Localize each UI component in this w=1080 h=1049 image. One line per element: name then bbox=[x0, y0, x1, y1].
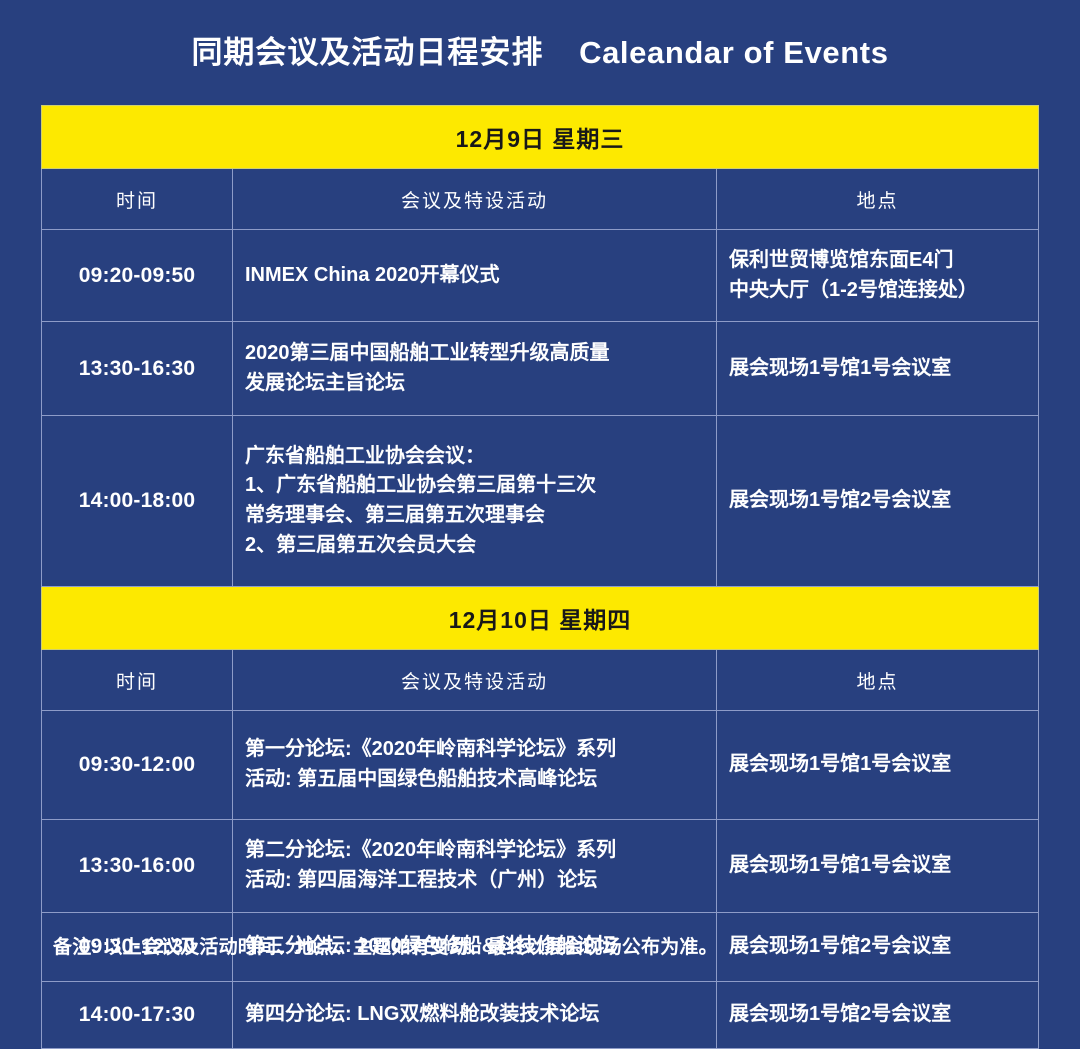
row-venue: 展会现场1号馆2号会议室 bbox=[717, 416, 1039, 587]
row-event: 第一分论坛:《2020年岭南科学论坛》系列 活动: 第五届中国绿色船舶技术高峰论… bbox=[233, 711, 717, 820]
row-event: INMEX China 2020开幕仪式 bbox=[233, 230, 717, 322]
day-banner-label: 12月9日 星期三 bbox=[42, 106, 1039, 169]
page-title-english: Caleandar of Events bbox=[579, 35, 888, 70]
event-line: 广东省船舶工业协会会议： bbox=[245, 442, 708, 472]
table-row: 14:00-17:30 第四分论坛: LNG双燃料舱改装技术论坛 展会现场1号馆… bbox=[42, 982, 1039, 1049]
row-time: 14:00-18:00 bbox=[42, 416, 233, 587]
event-line: 2、第三届第五次会员大会 bbox=[245, 531, 708, 561]
row-time: 14:00-17:30 bbox=[42, 982, 233, 1049]
event-line: 活动: 第四届海洋工程技术（广州）论坛 bbox=[245, 866, 708, 896]
table-row: 13:30-16:30 2020第三届中国船舶工业转型升级高质量 发展论坛主旨论… bbox=[42, 322, 1039, 416]
event-line: 1、广东省船舶工业协会第三届第十三次 bbox=[245, 471, 708, 501]
column-header-row: 时间 会议及特设活动 地点 bbox=[42, 169, 1039, 230]
row-venue: 展会现场1号馆1号会议室 bbox=[717, 820, 1039, 913]
footer-note: 备注: 以上会议及活动时间、地点、主题如有变动、最终以展会现场公布为准。 bbox=[53, 932, 718, 959]
column-header-time: 时间 bbox=[42, 169, 233, 230]
event-line: 活动: 第五届中国绿色船舶技术高峰论坛 bbox=[245, 765, 708, 795]
row-time: 09:30-12:00 bbox=[42, 711, 233, 820]
column-header-event: 会议及特设活动 bbox=[233, 169, 717, 230]
row-venue: 展会现场1号馆1号会议室 bbox=[717, 322, 1039, 416]
column-header-time: 时间 bbox=[42, 650, 233, 711]
page-title-chinese: 同期会议及活动日程安排 bbox=[191, 35, 543, 70]
day-banner-row: 12月10日 星期四 bbox=[42, 587, 1039, 650]
day-banner-label: 12月10日 星期四 bbox=[42, 587, 1039, 650]
column-header-event: 会议及特设活动 bbox=[233, 650, 717, 711]
table-row: 13:30-16:00 第二分论坛:《2020年岭南科学论坛》系列 活动: 第四… bbox=[42, 820, 1039, 913]
venue-line: 保利世贸博览馆东面E4门 bbox=[729, 246, 1030, 276]
venue-line: 展会现场1号馆2号会议室 bbox=[729, 1000, 1030, 1030]
row-time: 09:20-09:50 bbox=[42, 230, 233, 322]
venue-line: 中央大厅（1-2号馆连接处） bbox=[729, 276, 1030, 306]
event-line: 发展论坛主旨论坛 bbox=[245, 369, 708, 399]
venue-line: 展会现场1号馆1号会议室 bbox=[729, 354, 1030, 384]
event-line: 常务理事会、第三届第五次理事会 bbox=[245, 501, 708, 531]
row-venue: 展会现场1号馆1号会议室 bbox=[717, 711, 1039, 820]
column-header-venue: 地点 bbox=[717, 650, 1039, 711]
venue-line: 展会现场1号馆2号会议室 bbox=[729, 932, 1030, 962]
row-event: 第四分论坛: LNG双燃料舱改装技术论坛 bbox=[233, 982, 717, 1049]
venue-line: 展会现场1号馆1号会议室 bbox=[729, 851, 1030, 881]
row-venue: 展会现场1号馆2号会议室 bbox=[717, 913, 1039, 982]
column-header-venue: 地点 bbox=[717, 169, 1039, 230]
event-line: 第四分论坛: LNG双燃料舱改装技术论坛 bbox=[245, 1000, 708, 1030]
table-row: 14:00-18:00 广东省船舶工业协会会议： 1、广东省船舶工业协会第三届第… bbox=[42, 416, 1039, 587]
event-line: 2020第三届中国船舶工业转型升级高质量 bbox=[245, 339, 708, 369]
row-venue: 保利世贸博览馆东面E4门 中央大厅（1-2号馆连接处） bbox=[717, 230, 1039, 322]
events-schedule-table: 12月9日 星期三 时间 会议及特设活动 地点 09:20-09:50 INME… bbox=[41, 105, 1039, 1049]
event-line: 第一分论坛:《2020年岭南科学论坛》系列 bbox=[245, 735, 708, 765]
venue-line: 展会现场1号馆2号会议室 bbox=[729, 486, 1030, 516]
event-line: INMEX China 2020开幕仪式 bbox=[245, 261, 708, 291]
column-header-row: 时间 会议及特设活动 地点 bbox=[42, 650, 1039, 711]
row-time: 13:30-16:30 bbox=[42, 322, 233, 416]
table-row: 09:30-12:00 第一分论坛:《2020年岭南科学论坛》系列 活动: 第五… bbox=[42, 711, 1039, 820]
row-event: 广东省船舶工业协会会议： 1、广东省船舶工业协会第三届第十三次 常务理事会、第三… bbox=[233, 416, 717, 587]
row-time: 13:30-16:00 bbox=[42, 820, 233, 913]
row-venue: 展会现场1号馆2号会议室 bbox=[717, 982, 1039, 1049]
row-event: 2020第三届中国船舶工业转型升级高质量 发展论坛主旨论坛 bbox=[233, 322, 717, 416]
day-banner-row: 12月9日 星期三 bbox=[42, 106, 1039, 169]
page-title: 同期会议及活动日程安排 Caleandar of Events bbox=[0, 27, 1080, 72]
table-row: 09:20-09:50 INMEX China 2020开幕仪式 保利世贸博览馆… bbox=[42, 230, 1039, 322]
venue-line: 展会现场1号馆1号会议室 bbox=[729, 750, 1030, 780]
schedule-body: 12月9日 星期三 时间 会议及特设活动 地点 09:20-09:50 INME… bbox=[42, 106, 1039, 1049]
row-event: 第二分论坛:《2020年岭南科学论坛》系列 活动: 第四届海洋工程技术（广州）论… bbox=[233, 820, 717, 913]
event-line: 第二分论坛:《2020年岭南科学论坛》系列 bbox=[245, 836, 708, 866]
